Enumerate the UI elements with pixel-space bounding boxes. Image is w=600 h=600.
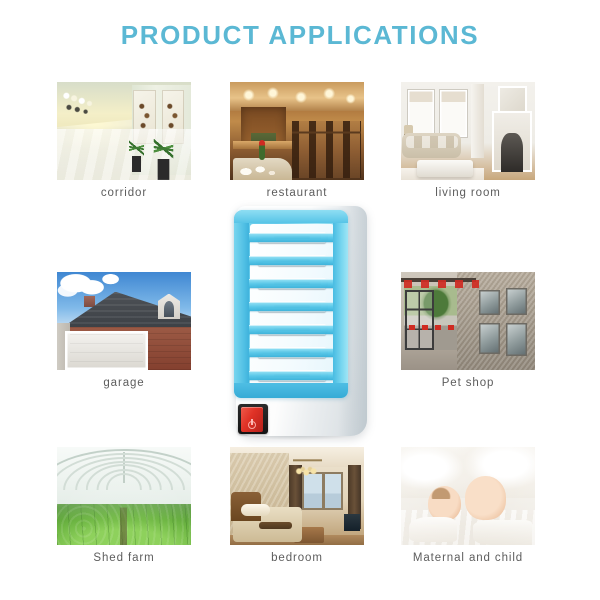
caption-maternal-and-child: Maternal and child [401,552,535,564]
maternal-and-child-photo [401,447,535,545]
shed-farm-photo [57,447,191,545]
product-image-mosquito-killer-lamp [228,206,374,436]
product-applications-page: PRODUCT APPLICATIONS corridor restaurant… [0,0,600,600]
page-title: PRODUCT APPLICATIONS [0,20,600,51]
product-grille-bars [234,210,348,398]
product-grille-panel [234,210,348,398]
application-card-bedroom[interactable]: bedroom [230,447,364,564]
application-card-corridor[interactable]: corridor [57,82,191,199]
caption-restaurant: restaurant [230,187,364,199]
product-grille-left-post [234,210,249,398]
caption-bedroom: bedroom [230,552,364,564]
pet-shop-photo [401,272,535,370]
bedroom-photo [230,447,364,545]
product-grille-right-post [333,210,348,398]
living-room-photo [401,82,535,180]
caption-pet-shop: Pet shop [401,377,535,389]
caption-garage: garage [57,377,191,389]
product-grille-bottom-cap [234,383,348,398]
application-card-garage[interactable]: garage [57,272,191,389]
product-power-switch[interactable] [238,404,268,434]
power-icon[interactable] [241,407,263,432]
caption-living-room: living room [401,187,535,199]
caption-corridor: corridor [57,187,191,199]
application-card-maternal-and-child[interactable]: Maternal and child [401,447,535,564]
corridor-photo [57,82,191,180]
application-card-pet-shop[interactable]: Pet shop [401,272,535,389]
application-card-shed-farm[interactable]: Shed farm [57,447,191,564]
garage-photo [57,272,191,370]
caption-shed-farm: Shed farm [57,552,191,564]
restaurant-photo [230,82,364,180]
product-grille-top-cap [234,210,348,223]
application-card-living-room[interactable]: living room [401,82,535,199]
application-card-restaurant[interactable]: restaurant [230,82,364,199]
